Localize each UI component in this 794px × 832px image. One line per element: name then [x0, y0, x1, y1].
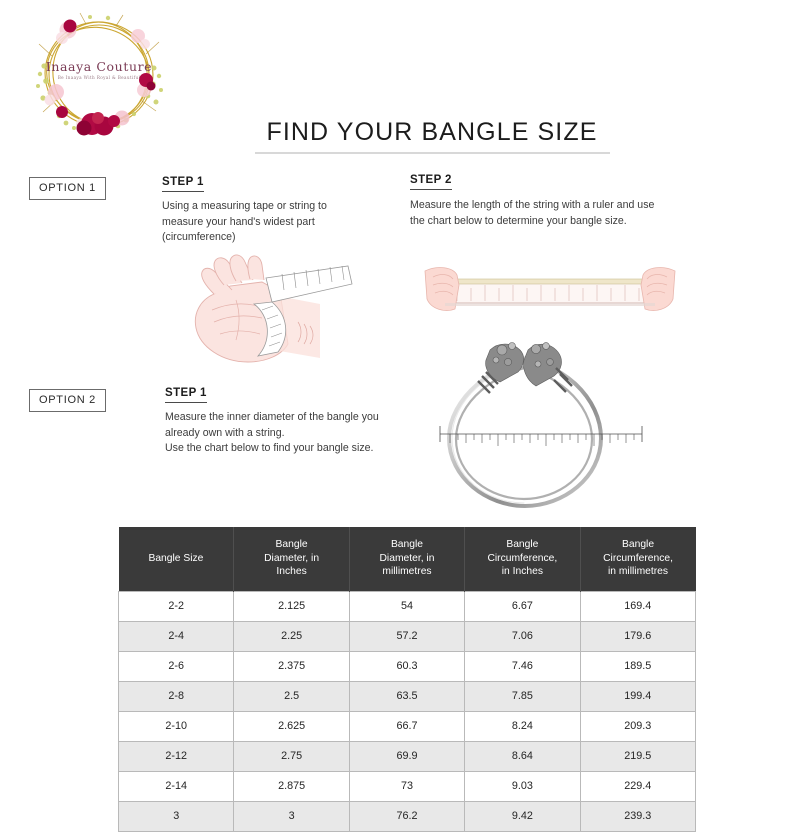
- cell-bangle-size: 2-6: [119, 651, 234, 681]
- column-header-diameter-millimetres: Bangle Diameter, in millimetres: [349, 527, 464, 591]
- brand-logo: Inaaya Couture Be Inaaya With Royal & Be…: [26, 8, 172, 142]
- cell-bangle-size: 2-10: [119, 711, 234, 741]
- option-1-step-1-text: Using a measuring tape or string to meas…: [162, 199, 367, 246]
- cell-diameter-mm: 60.3: [349, 651, 464, 681]
- brand-tagline: Be Inaaya With Royal & Beautiful: [26, 75, 172, 80]
- column-header-bangle-size: Bangle Size: [119, 527, 234, 591]
- silver-bangle-with-ruler-illustration: [428, 338, 673, 513]
- cell-diameter-mm: 76.2: [349, 801, 464, 831]
- option-2-step-1-heading: STEP 1: [165, 387, 207, 403]
- option-1-badge: OPTION 1: [29, 177, 106, 200]
- cell-circumference-mm: 219.5: [580, 741, 695, 771]
- cell-diameter-inches: 2.25: [234, 621, 349, 651]
- cell-bangle-size: 2-4: [119, 621, 234, 651]
- table-row: 3 3 76.2 9.42 239.3: [119, 801, 696, 831]
- cell-bangle-size: 2-14: [119, 771, 234, 801]
- cell-diameter-inches: 2.5: [234, 681, 349, 711]
- hand-with-measuring-tape-illustration: [170, 252, 360, 367]
- cell-circumference-inches: 9.03: [465, 771, 580, 801]
- cell-diameter-inches: 3: [234, 801, 349, 831]
- table-row: 2-4 2.25 57.2 7.06 179.6: [119, 621, 696, 651]
- cell-diameter-mm: 57.2: [349, 621, 464, 651]
- cell-circumference-mm: 169.4: [580, 591, 695, 621]
- table-header-row: Bangle Size Bangle Diameter, in Inches B…: [119, 527, 696, 591]
- option-1-step-2-heading: STEP 2: [410, 174, 452, 190]
- cell-circumference-inches: 6.67: [465, 591, 580, 621]
- cell-diameter-inches: 2.875: [234, 771, 349, 801]
- cell-circumference-inches: 9.42: [465, 801, 580, 831]
- cell-diameter-mm: 73: [349, 771, 464, 801]
- size-conversion-table: Bangle Size Bangle Diameter, in Inches B…: [118, 527, 696, 832]
- option-2-step-1-text: Measure the inner diameter of the bangle…: [165, 410, 415, 457]
- page-title: FIND YOUR BANGLE SIZE: [262, 118, 602, 147]
- cell-diameter-inches: 2.75: [234, 741, 349, 771]
- column-header-diameter-inches: Bangle Diameter, in Inches: [234, 527, 349, 591]
- brand-name: Inaaya Couture: [26, 59, 172, 74]
- table-row: 2-8 2.5 63.5 7.85 199.4: [119, 681, 696, 711]
- cell-circumference-mm: 199.4: [580, 681, 695, 711]
- cell-diameter-mm: 54: [349, 591, 464, 621]
- cell-diameter-inches: 2.625: [234, 711, 349, 741]
- cell-bangle-size: 2-8: [119, 681, 234, 711]
- title-divider: [255, 152, 610, 154]
- cell-bangle-size: 2-2: [119, 591, 234, 621]
- cell-circumference-mm: 209.3: [580, 711, 695, 741]
- cell-circumference-mm: 179.6: [580, 621, 695, 651]
- cell-circumference-inches: 8.24: [465, 711, 580, 741]
- table-row: 2-10 2.625 66.7 8.24 209.3: [119, 711, 696, 741]
- bangle-size-chart: Bangle Size Bangle Diameter, in Inches B…: [118, 527, 696, 832]
- cell-bangle-size: 3: [119, 801, 234, 831]
- table-row: 2-12 2.75 69.9 8.64 219.5: [119, 741, 696, 771]
- table-row: 2-14 2.875 73 9.03 229.4: [119, 771, 696, 801]
- cell-diameter-mm: 66.7: [349, 711, 464, 741]
- option-1-step-1-heading: STEP 1: [162, 176, 204, 192]
- cell-bangle-size: 2-12: [119, 741, 234, 771]
- cell-circumference-inches: 8.64: [465, 741, 580, 771]
- option-1-step-2-text: Measure the length of the string with a …: [410, 198, 668, 229]
- cell-diameter-mm: 63.5: [349, 681, 464, 711]
- option-2-badge: OPTION 2: [29, 389, 106, 412]
- hands-holding-ruler-illustration: [415, 255, 685, 330]
- cell-circumference-mm: 239.3: [580, 801, 695, 831]
- table-row: 2-6 2.375 60.3 7.46 189.5: [119, 651, 696, 681]
- cell-circumference-inches: 7.06: [465, 621, 580, 651]
- cell-diameter-inches: 2.375: [234, 651, 349, 681]
- cell-circumference-inches: 7.85: [465, 681, 580, 711]
- cell-circumference-inches: 7.46: [465, 651, 580, 681]
- table-row: 2-2 2.125 54 6.67 169.4: [119, 591, 696, 621]
- column-header-circumference-millimetres: Bangle Circumference, in millimetres: [580, 527, 695, 591]
- cell-diameter-inches: 2.125: [234, 591, 349, 621]
- column-header-circumference-inches: Bangle Circumference, in Inches: [465, 527, 580, 591]
- cell-diameter-mm: 69.9: [349, 741, 464, 771]
- cell-circumference-mm: 189.5: [580, 651, 695, 681]
- cell-circumference-mm: 229.4: [580, 771, 695, 801]
